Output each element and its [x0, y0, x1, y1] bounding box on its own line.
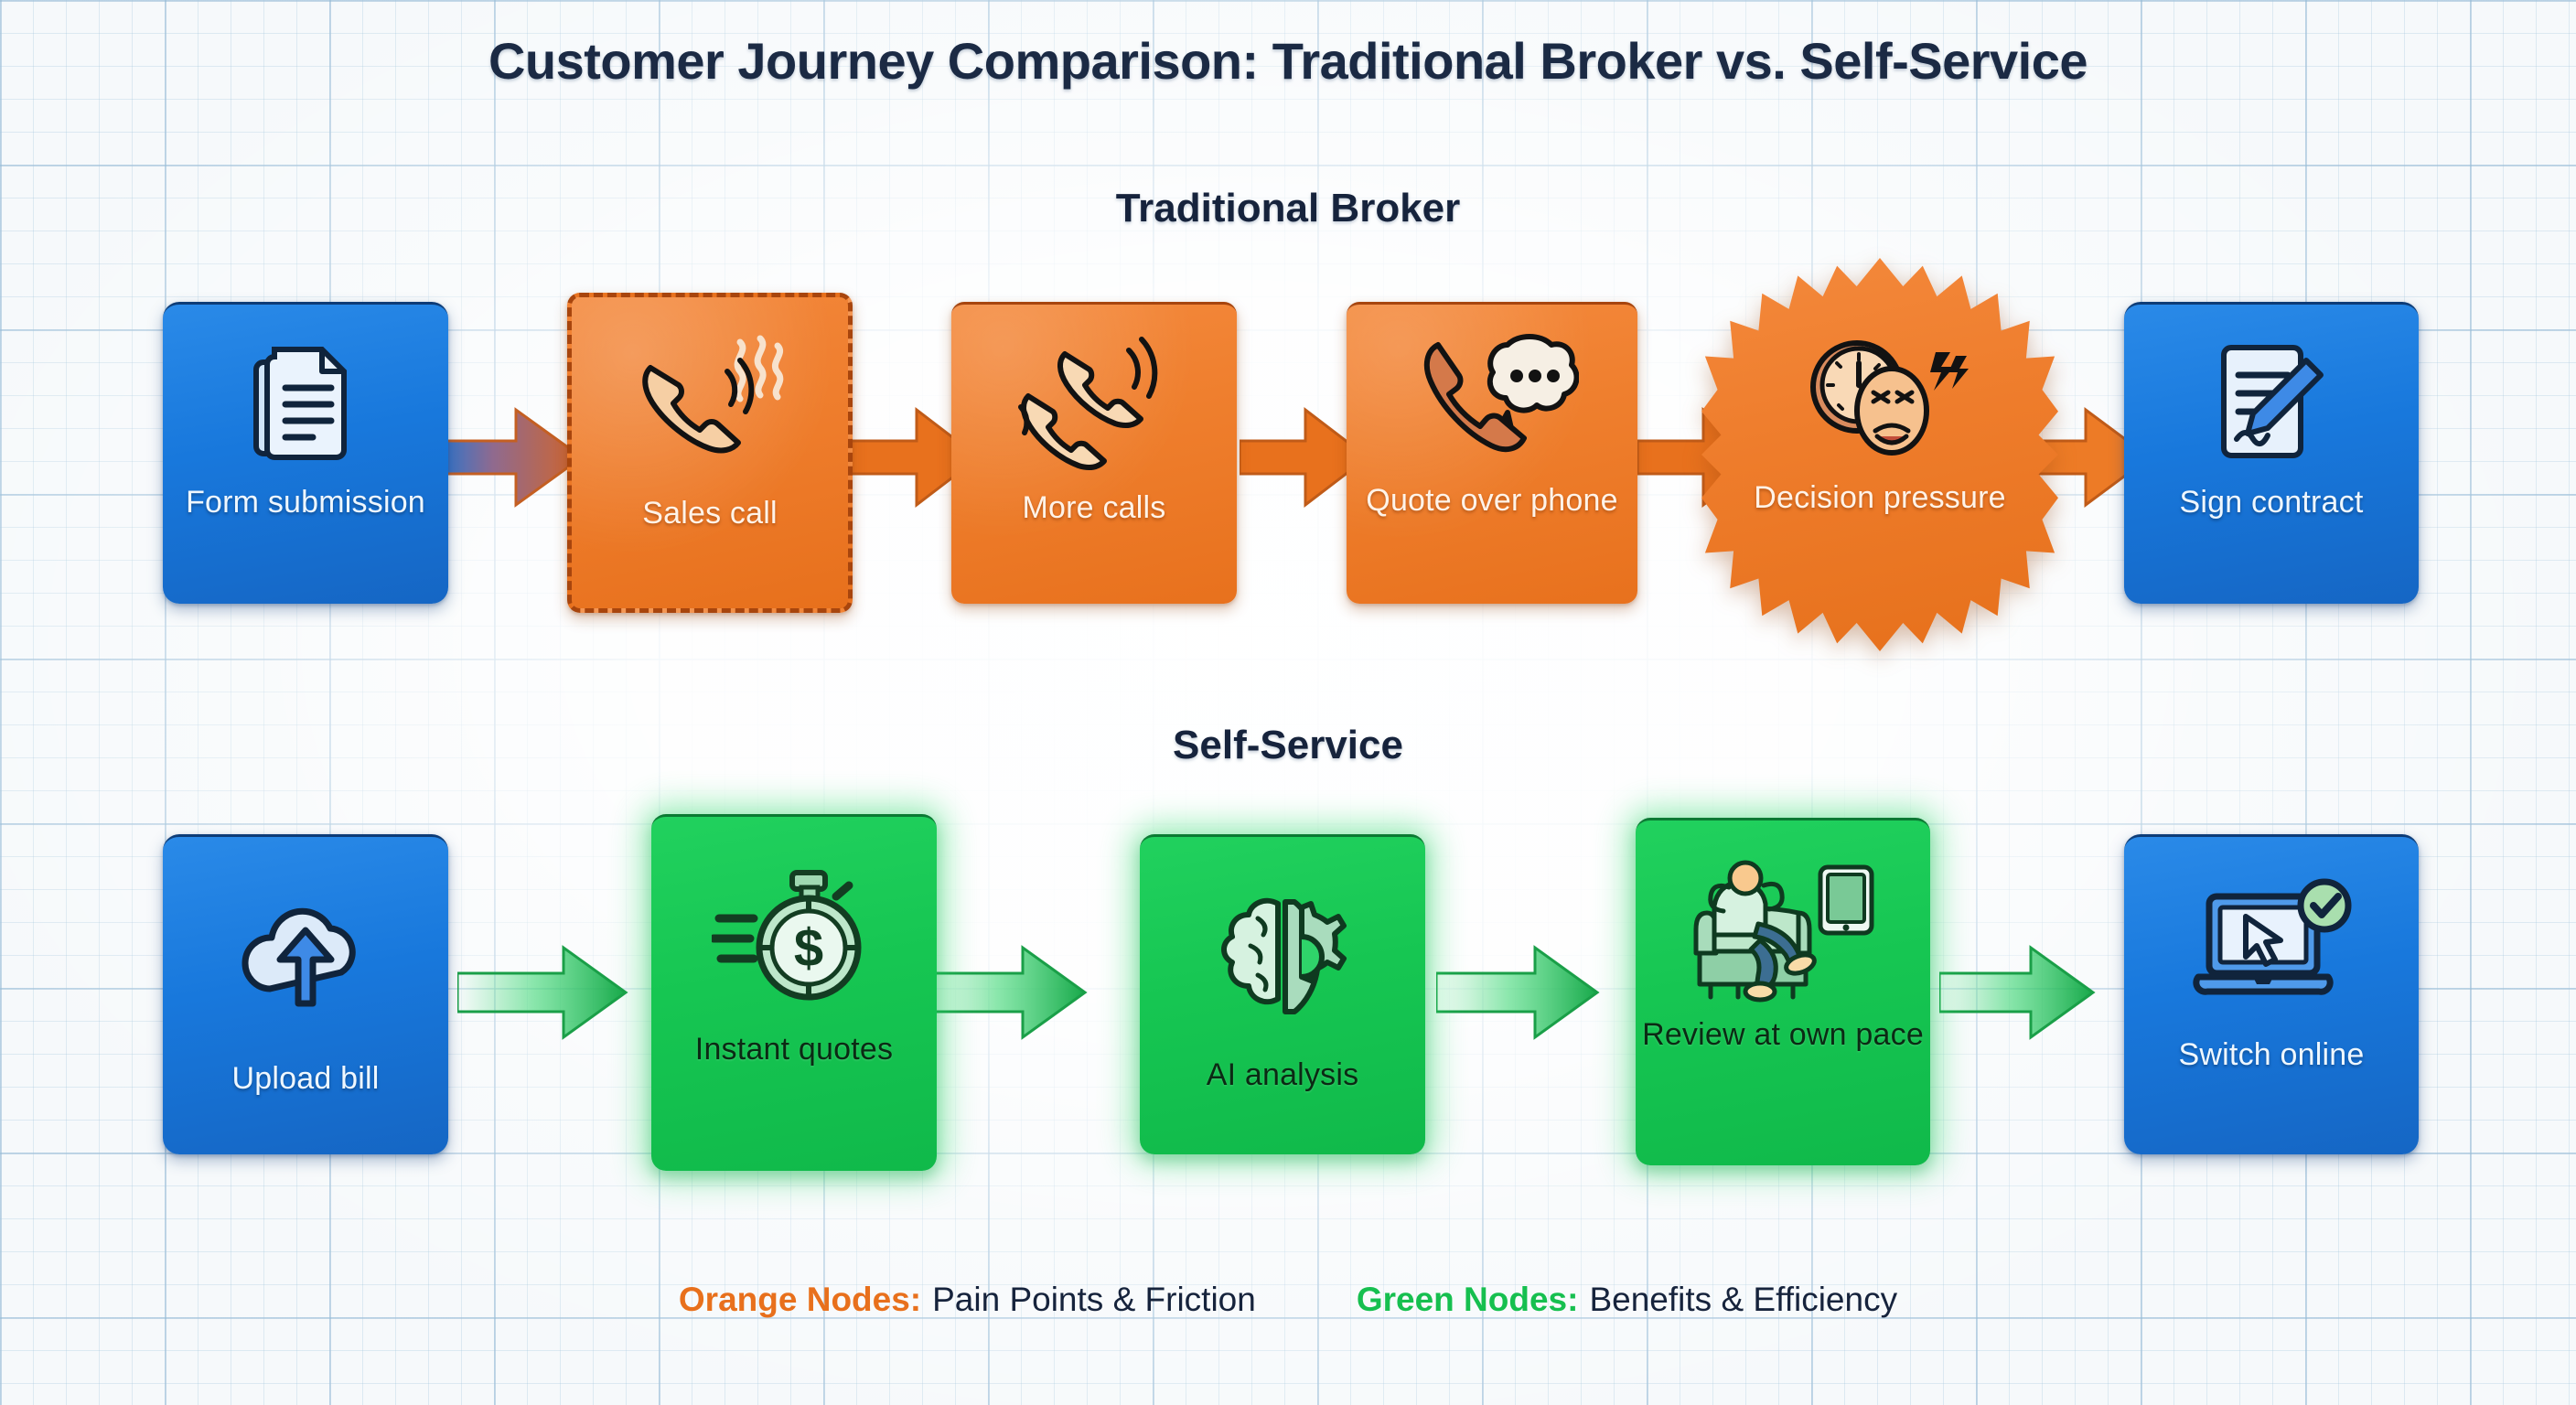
node-decision-pressure[interactable]: Decision pressure: [1701, 258, 2058, 651]
stopwatch-dollar-icon: $: [712, 864, 876, 1011]
node-label: Switch online: [2124, 1038, 2419, 1072]
document-stack-icon: [251, 336, 360, 473]
node-label: Sign contract: [2124, 486, 2419, 520]
node-more-calls[interactable]: More calls: [951, 302, 1237, 604]
node-sales-call[interactable]: Sales call: [567, 293, 853, 613]
legend-item-orange: Orange Nodes: Pain Points & Friction: [679, 1281, 1256, 1319]
phone-speech-bubble-icon: [1405, 332, 1579, 469]
node-upload-bill[interactable]: Upload bill: [163, 834, 448, 1154]
two-phones-ringing-icon: [1012, 334, 1176, 471]
legend-key-green: Green Nodes:: [1357, 1281, 1579, 1319]
legend: Orange Nodes: Pain Points & Friction Gre…: [0, 1281, 2576, 1319]
node-decision-pressure-shadow: Decision pressure: [1701, 258, 2058, 651]
legend-value-green: Benefits & Efficiency: [1589, 1281, 1897, 1319]
brain-gear-icon: [1214, 888, 1351, 1025]
clock-stressed-face-icon: [1791, 329, 1970, 467]
arrow-review-to-switch: [1939, 942, 2104, 1043]
ringing-phone-hot-icon: [632, 328, 788, 475]
node-form-submission[interactable]: Form submission: [163, 302, 448, 604]
node-label: Quote over phone: [1347, 484, 1637, 518]
node-label: AI analysis: [1140, 1058, 1425, 1092]
node-label: Upload bill: [163, 1062, 448, 1096]
node-quote-over-phone[interactable]: Quote over phone: [1347, 302, 1637, 604]
legend-key-orange: Orange Nodes:: [679, 1281, 921, 1319]
row-title-self-service: Self-Service: [0, 723, 2576, 768]
node-ai-analysis[interactable]: AI analysis: [1140, 834, 1425, 1154]
laptop-cursor-check-icon: [2189, 874, 2354, 1020]
node-review-at-own-pace[interactable]: Review at own pace: [1636, 818, 1930, 1165]
node-label: Review at own pace: [1636, 1018, 1930, 1052]
legend-value-orange: Pain Points & Friction: [932, 1281, 1256, 1319]
diagram-canvas: Customer Journey Comparison: Traditional…: [0, 0, 2576, 1405]
node-switch-online[interactable]: Switch online: [2124, 834, 2419, 1154]
node-sign-contract[interactable]: Sign contract: [2124, 302, 2419, 604]
arrow-ai-to-review: [1436, 942, 1610, 1043]
node-label: Decision pressure: [1701, 481, 2058, 515]
node-label: Form submission: [163, 486, 448, 520]
contract-pen-icon: [2207, 334, 2335, 471]
node-instant-quotes[interactable]: $ Instant quotes: [651, 814, 937, 1171]
legend-item-green: Green Nodes: Benefits & Efficiency: [1357, 1281, 1897, 1319]
node-label: Instant quotes: [651, 1033, 937, 1067]
arrow-upload-to-instant: [457, 942, 640, 1043]
svg-text:$: $: [794, 918, 823, 978]
cloud-upload-icon: [237, 892, 374, 1029]
arrow-instant-to-ai: [924, 942, 1098, 1043]
node-label: Sales call: [572, 497, 848, 531]
relaxing-person-tablet-icon: [1687, 853, 1879, 1009]
row-title-traditional-broker: Traditional Broker: [0, 186, 2576, 231]
page-title: Customer Journey Comparison: Traditional…: [0, 31, 2576, 91]
node-label: More calls: [951, 491, 1237, 525]
